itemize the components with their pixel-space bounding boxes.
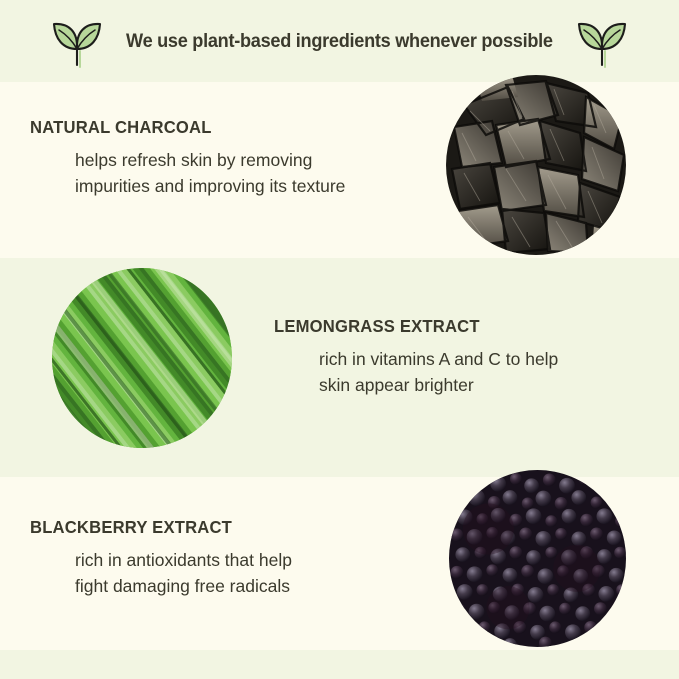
ingredient-description-line2: fight damaging free radicals <box>75 574 292 600</box>
ingredient-name: BLACKBERRY EXTRACT <box>30 517 279 538</box>
leaf-sprout-icon-right <box>573 13 631 69</box>
ingredient-text-charcoal: NATURAL CHARCOAL helps refresh skin by r… <box>30 117 345 200</box>
ingredient-description-line1: helps refresh skin by removing <box>75 148 345 174</box>
ingredient-infographic: We use plant-based ingredients whenever … <box>0 0 679 679</box>
ingredient-description: rich in vitamins A and C to help skin ap… <box>274 347 558 399</box>
ingredient-row-blackberry: BLACKBERRY EXTRACT rich in antioxidants … <box>0 477 679 650</box>
page-title: We use plant-based ingredients whenever … <box>126 30 553 53</box>
ingredient-description: rich in antioxidants that help fight dam… <box>30 548 292 600</box>
ingredient-name: NATURAL CHARCOAL <box>30 117 330 138</box>
ingredient-row-lemongrass: LEMONGRASS EXTRACT rich in vitamins A an… <box>0 258 679 477</box>
ingredient-description-line1: rich in antioxidants that help <box>75 548 292 574</box>
header: We use plant-based ingredients whenever … <box>0 0 679 82</box>
ingredient-description-line2: skin appear brighter <box>319 373 558 399</box>
ingredient-description-line2: impurities and improving its texture <box>75 174 345 200</box>
band-footer <box>0 650 679 679</box>
ingredient-text-blackberry: BLACKBERRY EXTRACT rich in antioxidants … <box>30 517 292 600</box>
ingredient-description-line1: rich in vitamins A and C to help <box>319 347 558 373</box>
ingredient-row-charcoal: NATURAL CHARCOAL helps refresh skin by r… <box>0 82 679 258</box>
lemongrass-extract-photo <box>52 268 232 448</box>
ingredient-text-lemongrass: LEMONGRASS EXTRACT rich in vitamins A an… <box>274 316 558 399</box>
blackberry-extract-photo <box>449 470 626 647</box>
ingredient-name: LEMONGRASS EXTRACT <box>274 316 544 337</box>
ingredient-description: helps refresh skin by removing impuritie… <box>30 148 345 200</box>
natural-charcoal-photo <box>446 75 626 255</box>
leaf-sprout-icon-left <box>48 13 106 69</box>
